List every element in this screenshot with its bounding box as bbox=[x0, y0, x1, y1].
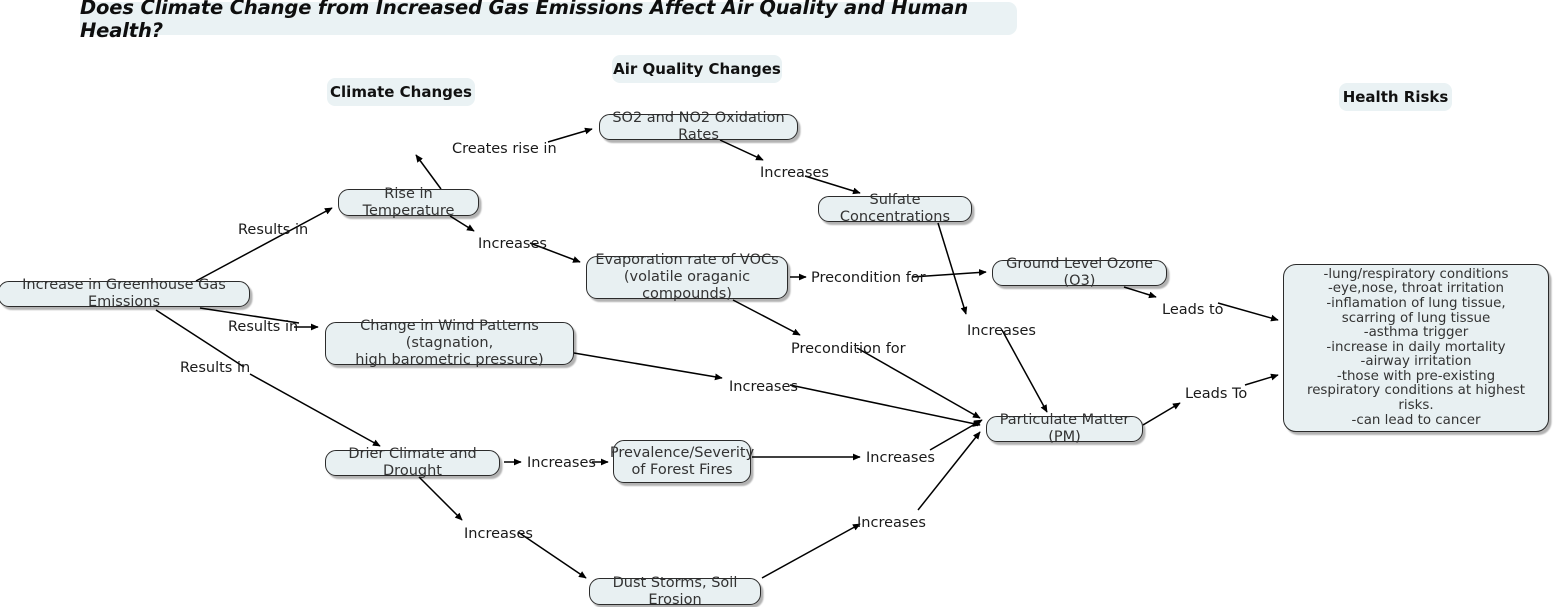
edge-sulfate-to-label13 bbox=[938, 223, 966, 314]
health-risk-line: respiratory conditions at highest risks. bbox=[1290, 384, 1542, 413]
edge-label: Increases bbox=[760, 165, 829, 181]
edge-drier-to-label11 bbox=[419, 477, 462, 520]
health-risk-line: -asthma trigger bbox=[1290, 326, 1542, 341]
edge-label: Increases bbox=[527, 455, 596, 471]
edge-label: Increases bbox=[478, 236, 547, 252]
node-temp[interactable]: Rise in Temperature bbox=[338, 189, 479, 216]
edge-label2-to-drier bbox=[250, 374, 380, 446]
health-risk-line: -those with pre-existing bbox=[1290, 370, 1542, 385]
node-dust[interactable]: Dust Storms, Soil Erosion bbox=[589, 578, 761, 605]
node-so2no2[interactable]: SO2 and NO2 Oxidation Rates bbox=[599, 114, 798, 140]
node-ghg[interactable]: Increase in Greenhouse Gas Emissions bbox=[0, 281, 250, 307]
edge-label: Results in bbox=[180, 360, 250, 376]
health-risk-line: scarring of lung tissue bbox=[1290, 312, 1542, 327]
edge-label: Increases bbox=[857, 515, 926, 531]
edge-label: Leads To bbox=[1185, 386, 1247, 402]
edge-label10-to-pm bbox=[930, 420, 982, 450]
concept-map-canvas: Does Climate Change from Increased Gas E… bbox=[0, 0, 1553, 607]
edge-label: Precondition for bbox=[811, 270, 926, 286]
edge-label12-to-pm bbox=[918, 432, 980, 510]
health-risk-line: -can lead to cancer bbox=[1290, 414, 1542, 429]
edge-wind-to-label8 bbox=[574, 353, 722, 378]
edge-label: Results in bbox=[228, 319, 298, 335]
edge-ghg-to-temp bbox=[196, 208, 332, 281]
edge-label: Precondition for bbox=[791, 341, 906, 357]
column-heading-health-risks: Health Risks bbox=[1339, 83, 1452, 111]
node-fires[interactable]: Prevalence/Severity of Forest Fires bbox=[613, 440, 751, 483]
edge-vocs-to-label7 bbox=[733, 300, 800, 335]
node-ozone[interactable]: Ground Level Ozone (O3) bbox=[992, 260, 1167, 286]
edge-label: Leads to bbox=[1162, 302, 1224, 318]
edge-label: Increases bbox=[866, 450, 935, 466]
node-sulfate[interactable]: Sulfate Concentrations bbox=[818, 196, 972, 222]
health-risk-line: -increase in daily mortality bbox=[1290, 341, 1542, 356]
edge-label13-to-pm bbox=[1002, 330, 1047, 412]
edge-label: Increases bbox=[967, 323, 1036, 339]
health-risk-line: -inflamation of lung tissue, bbox=[1290, 297, 1542, 312]
edge-pm-to-label15 bbox=[1143, 403, 1180, 425]
health-risk-line: -airway irritation bbox=[1290, 355, 1542, 370]
edge-label: Results in bbox=[238, 222, 308, 238]
edge-label15-to-health bbox=[1245, 375, 1278, 385]
health-risk-line: -lung/respiratory conditions bbox=[1290, 268, 1542, 283]
column-heading-climate-changes: Climate Changes bbox=[327, 78, 475, 106]
node-health-risks[interactable]: -lung/respiratory conditions-eye,nose, t… bbox=[1283, 264, 1549, 432]
node-vocs[interactable]: Evaporation rate of VOCs (volatile oraga… bbox=[586, 256, 788, 299]
column-heading-air-quality-changes: Air Quality Changes bbox=[612, 55, 782, 83]
edge-label: Increases bbox=[729, 379, 798, 395]
edge-label: Creates rise in bbox=[452, 141, 557, 157]
edge-dust-to-label12 bbox=[762, 524, 860, 578]
edge-label: Increases bbox=[464, 526, 533, 542]
page-title: Does Climate Change from Increased Gas E… bbox=[80, 2, 1017, 35]
edge-label7-to-pm bbox=[857, 348, 980, 418]
edge-label8-to-pm bbox=[790, 385, 980, 425]
node-drier[interactable]: Drier Climate and Drought bbox=[325, 450, 500, 476]
health-risk-line: -eye,nose, throat irritation bbox=[1290, 282, 1542, 297]
node-pm[interactable]: Particulate Matter (PM) bbox=[986, 416, 1143, 442]
edge-temp-to-label3 bbox=[416, 155, 441, 189]
edge-label14-to-health bbox=[1218, 303, 1278, 320]
node-wind[interactable]: Change in Wind Patterns (stagnation, hig… bbox=[325, 322, 574, 365]
